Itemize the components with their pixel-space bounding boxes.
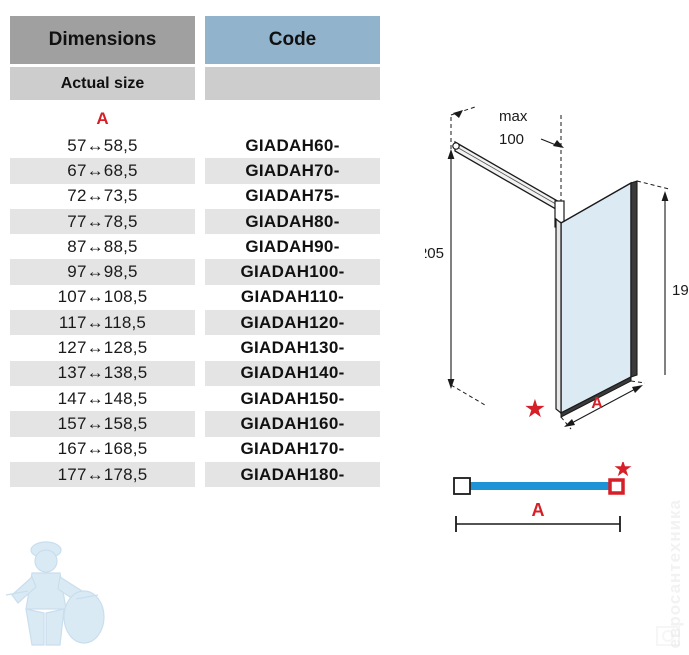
cell-code: GIADAH150- xyxy=(205,386,380,411)
star-marker-plan: ★ xyxy=(613,462,633,481)
cell-dimension: 157↔158,5 xyxy=(10,411,195,436)
table-row: 117↔118,5GIADAH120- xyxy=(10,310,380,335)
svg-text:★: ★ xyxy=(524,395,546,423)
cell-dimension: 177↔178,5 xyxy=(10,462,195,487)
cell-code: GIADAH110- xyxy=(205,285,380,310)
table-row: 67↔68,5GIADAH70- xyxy=(10,158,380,183)
specification-table: Dimensions Code Actual size A 57↔58,5GIA… xyxy=(10,16,380,487)
cell-code: GIADAH170- xyxy=(205,437,380,462)
dimension-205-label: 205 xyxy=(425,245,444,262)
label-max-value: 100 xyxy=(499,131,524,148)
table-row: 177↔178,5GIADAH180- xyxy=(10,462,380,487)
cell-code: GIADAH140- xyxy=(205,361,380,386)
column-header-code: Code xyxy=(205,16,380,64)
support-bar xyxy=(453,142,561,212)
table-header-row: Dimensions Code xyxy=(10,16,380,64)
table-row: 97↔98,5GIADAH100- xyxy=(10,259,380,284)
cell-dimension: 117↔118,5 xyxy=(10,310,195,335)
dimension-195-label: 195 xyxy=(672,282,689,299)
cell-code: GIADAH90- xyxy=(205,234,380,259)
cell-code: GIADAH160- xyxy=(205,411,380,436)
cell-code: GIADAH75- xyxy=(205,184,380,209)
dimension-205: 205 xyxy=(425,149,454,389)
table-row: 167↔168,5GIADAH170- xyxy=(10,437,380,462)
dimension-letter-a: A xyxy=(10,104,195,133)
plumber-mascot-watermark xyxy=(2,533,122,653)
subheader-actual-size: Actual size xyxy=(10,67,195,100)
cell-dimension: 57↔58,5 xyxy=(10,133,195,158)
star-marker-iso: ★ xyxy=(524,395,546,423)
cell-code: GIADAH130- xyxy=(205,335,380,360)
cell-dimension: 77↔78,5 xyxy=(10,209,195,234)
cell-dimension: 107↔108,5 xyxy=(10,285,195,310)
cell-code: GIADAH100- xyxy=(205,259,380,284)
isometric-panel-drawing: 205 max 100 195 xyxy=(425,95,689,445)
table-letter-row: A xyxy=(10,104,380,133)
cell-code: GIADAH70- xyxy=(205,158,380,183)
cell-code: GIADAH180- xyxy=(205,462,380,487)
cell-dimension: 72↔73,5 xyxy=(10,184,195,209)
table-row: 147↔148,5GIADAH150- xyxy=(10,386,380,411)
table-row: 157↔158,5GIADAH160- xyxy=(10,411,380,436)
plan-wall-connector xyxy=(454,478,470,494)
column-header-dimensions: Dimensions xyxy=(10,16,195,64)
dimension-a-plan: A xyxy=(456,500,620,532)
plan-view-drawing: ★ A xyxy=(440,462,670,552)
dimension-a-plan-label: A xyxy=(532,500,545,520)
plan-end-connector xyxy=(610,480,623,493)
cell-code: GIADAH60- xyxy=(205,133,380,158)
dimension-a-iso-label: A xyxy=(591,395,603,412)
glass-panel xyxy=(556,181,637,417)
label-max: max xyxy=(499,108,528,125)
corner-logo-watermark xyxy=(653,619,683,649)
table-subheader-row: Actual size xyxy=(10,67,380,100)
table-body: 57↔58,5GIADAH60-67↔68,5GIADAH70-72↔73,5G… xyxy=(10,133,380,487)
subheader-code-empty xyxy=(205,67,380,100)
cell-dimension: 97↔98,5 xyxy=(10,259,195,284)
plan-panel-bar xyxy=(466,482,618,490)
letter-row-code-empty xyxy=(205,104,380,133)
table-row: 137↔138,5GIADAH140- xyxy=(10,361,380,386)
table-row: 57↔58,5GIADAH60- xyxy=(10,133,380,158)
cell-dimension: 127↔128,5 xyxy=(10,335,195,360)
cell-dimension: 67↔68,5 xyxy=(10,158,195,183)
cell-code: GIADAH120- xyxy=(205,310,380,335)
cell-dimension: 147↔148,5 xyxy=(10,386,195,411)
dimension-195: 195 xyxy=(637,181,689,375)
cell-dimension: 87↔88,5 xyxy=(10,234,195,259)
table-row: 107↔108,5GIADAH110- xyxy=(10,285,380,310)
cell-code: GIADAH80- xyxy=(205,209,380,234)
table-row: 87↔88,5GIADAH90- xyxy=(10,234,380,259)
table-row: 77↔78,5GIADAH80- xyxy=(10,209,380,234)
cell-dimension: 167↔168,5 xyxy=(10,437,195,462)
table-row: 72↔73,5GIADAH75- xyxy=(10,184,380,209)
cell-dimension: 137↔138,5 xyxy=(10,361,195,386)
table-row: 127↔128,5GIADAH130- xyxy=(10,335,380,360)
